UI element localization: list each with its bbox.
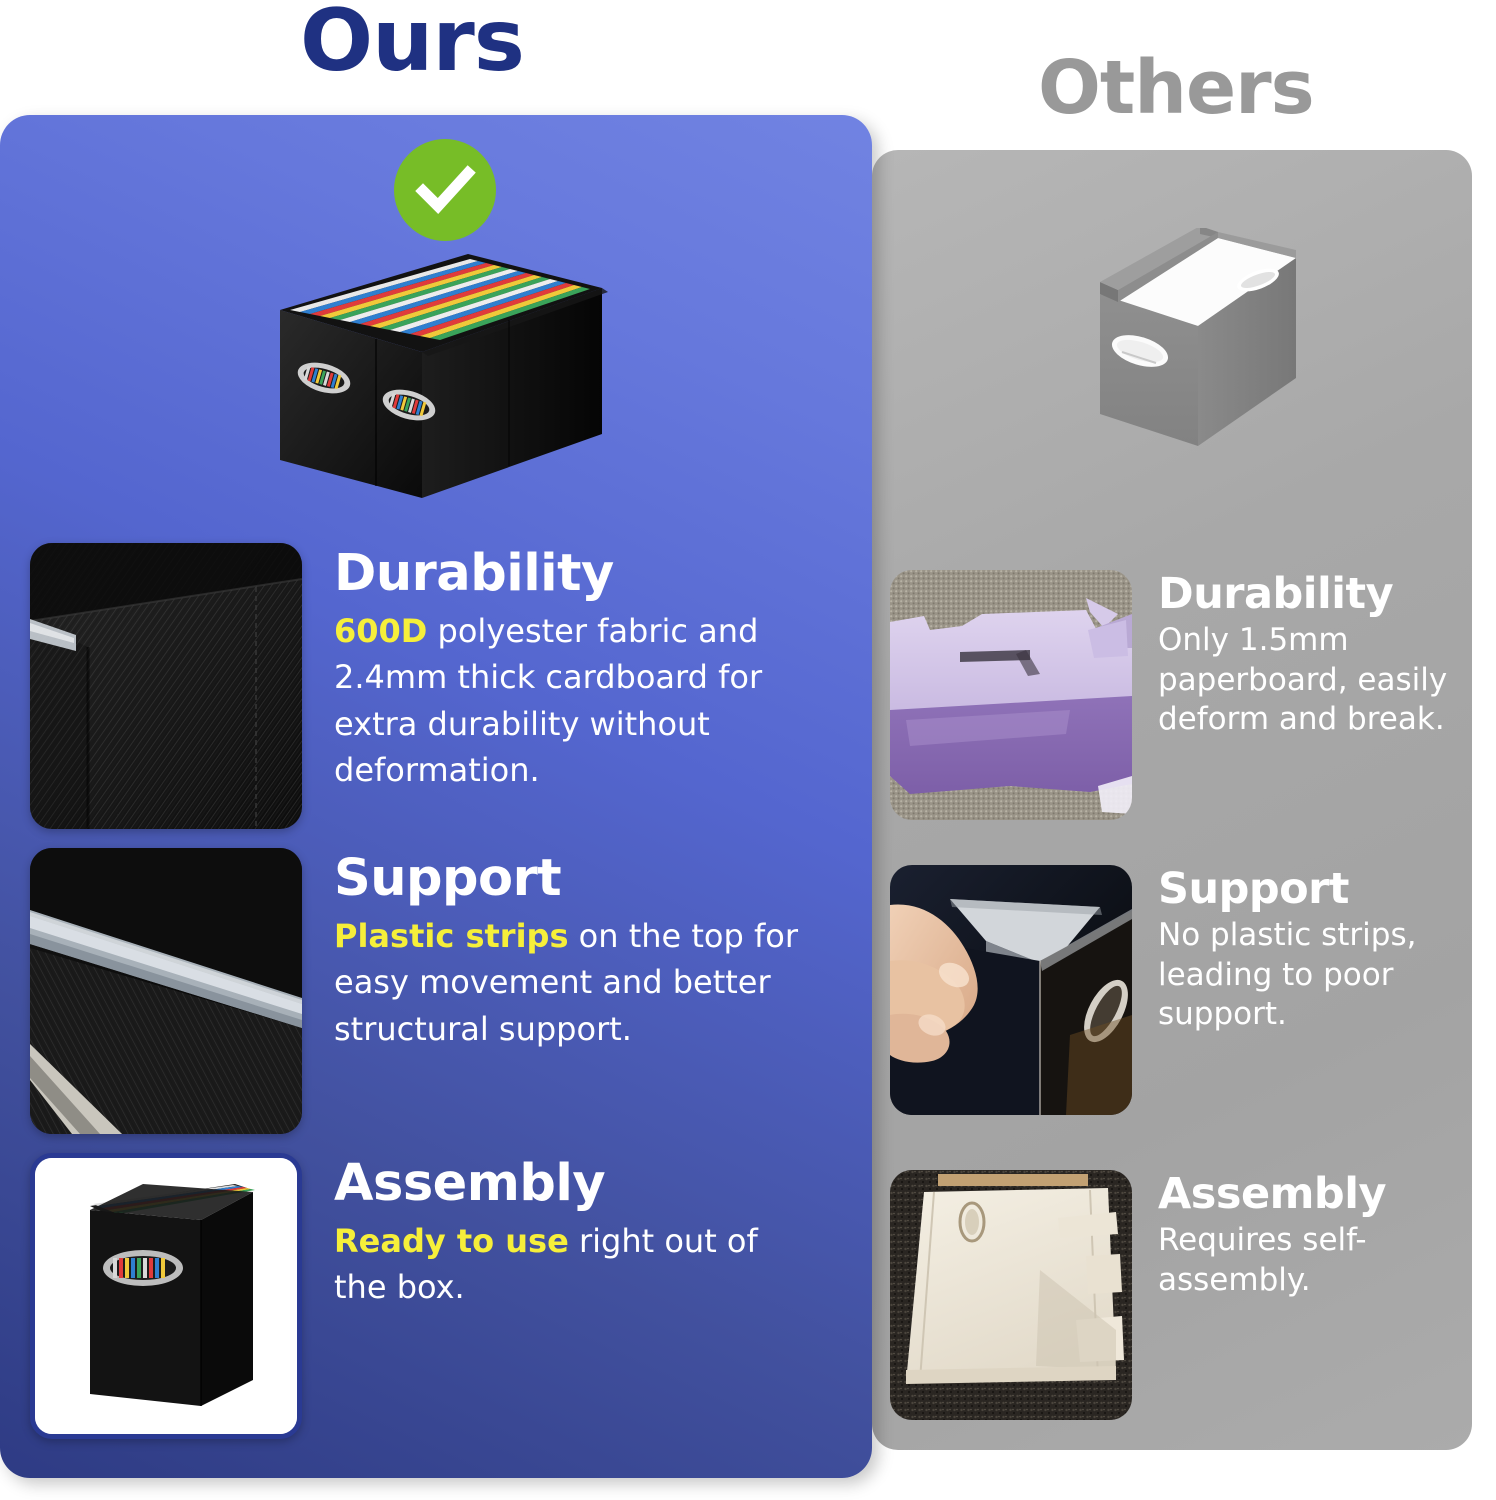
others-feature-durability: Durability Only 1.5mm paperboard, easily…: [890, 570, 1488, 820]
hero-image-ours: [272, 248, 612, 513]
others-feature-assembly: Assembly Requires self-assembly.: [890, 1170, 1488, 1420]
others-durability-heading: Durability: [1158, 572, 1488, 617]
check-badge: [394, 139, 496, 241]
page-title-ours: Ours: [300, 0, 524, 89]
page-title-others: Others: [1038, 48, 1314, 129]
comparison-infographic: Ours Others: [0, 0, 1496, 1500]
others-support-body: No plastic strips, leading to poor suppo…: [1158, 916, 1488, 1035]
others-durability-thumbnail: [890, 570, 1132, 820]
hero-image-others: [1068, 228, 1336, 456]
ours-assembly-body: Ready to use right out of the box.: [334, 1218, 804, 1311]
ours-durability-body: 600D polyester fabric and 2.4mm thick ca…: [334, 608, 804, 794]
ours-support-text: Support Plastic strips on the top for ea…: [334, 848, 804, 1052]
check-mark-icon: [413, 158, 477, 222]
others-support-text: Support No plastic strips, leading to po…: [1158, 865, 1488, 1035]
ours-support-body: Plastic strips on the top for easy movem…: [334, 913, 804, 1052]
ours-assembly-thumbnail: [30, 1153, 302, 1439]
others-support-thumbnail: [890, 865, 1132, 1115]
ours-durability-heading: Durability: [334, 547, 804, 600]
others-assembly-body: Requires self-assembly.: [1158, 1221, 1488, 1300]
ours-assembly-highlight: Ready to use: [334, 1222, 569, 1260]
ours-durability-highlight: 600D: [334, 612, 427, 650]
others-support-heading: Support: [1158, 867, 1488, 912]
ours-durability-text: Durability 600D polyester fabric and 2.4…: [334, 543, 804, 794]
ours-assembly-heading: Assembly: [334, 1157, 804, 1210]
others-assembly-heading: Assembly: [1158, 1172, 1488, 1217]
ours-support-heading: Support: [334, 852, 804, 905]
ours-feature-assembly: Assembly Ready to use right out of the b…: [30, 1153, 804, 1439]
ours-support-thumbnail: [30, 848, 302, 1134]
ours-feature-support: Support Plastic strips on the top for ea…: [30, 848, 804, 1134]
ours-assembly-text: Assembly Ready to use right out of the b…: [334, 1153, 804, 1311]
others-feature-support: Support No plastic strips, leading to po…: [890, 865, 1488, 1115]
others-assembly-thumbnail: [890, 1170, 1132, 1420]
others-assembly-text: Assembly Requires self-assembly.: [1158, 1170, 1488, 1300]
ours-support-highlight: Plastic strips: [334, 917, 568, 955]
ours-durability-thumbnail: [30, 543, 302, 829]
ours-feature-durability: Durability 600D polyester fabric and 2.4…: [30, 543, 804, 829]
others-durability-body: Only 1.5mm paperboard, easily deform and…: [1158, 621, 1488, 740]
others-durability-text: Durability Only 1.5mm paperboard, easily…: [1158, 570, 1488, 740]
